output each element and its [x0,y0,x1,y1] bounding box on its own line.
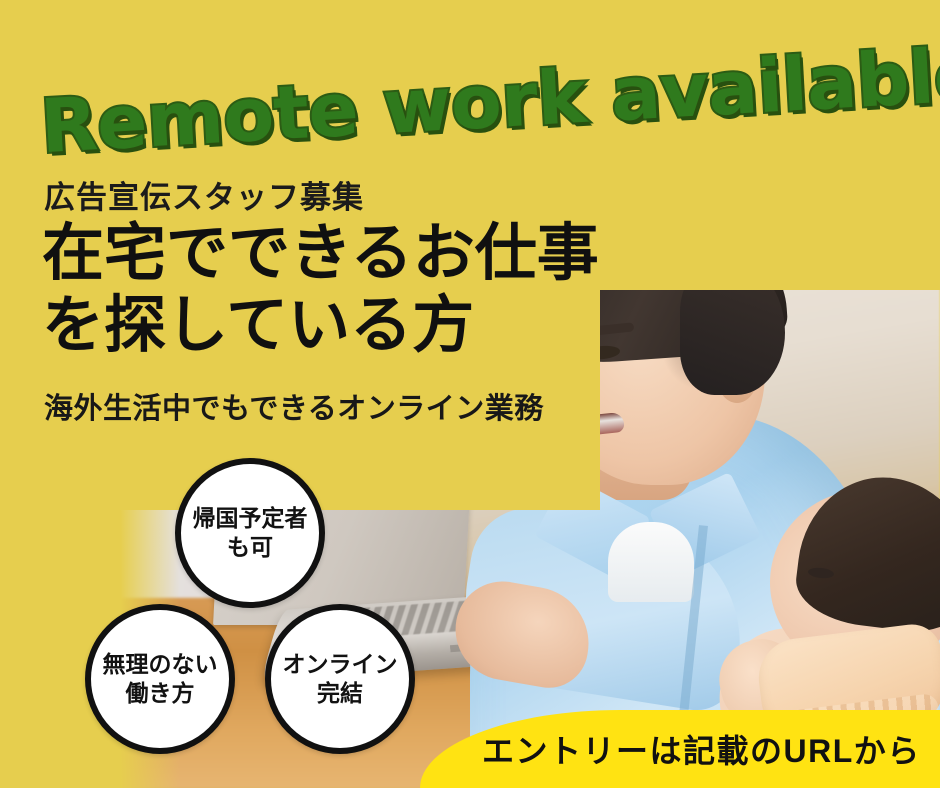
badge-line-1: 無理のない [103,651,218,677]
ad-poster: Remote work available 広告宣伝スタッフ募集 在宅でできるお… [0,0,940,788]
badge-flexible-work: 無理のない 働き方 [85,604,235,754]
main-heading-line-2: を探している方 [42,290,599,362]
badge-label: 帰国予定者 も可 [193,504,308,563]
page-title: Remote work available [38,32,940,171]
main-heading: 在宅でできるお仕事 を探している方 [42,218,599,362]
main-heading-line-1: 在宅でできるお仕事 [42,218,599,290]
kicker-text: 広告宣伝スタッフ募集 [44,172,364,217]
man-undershirt [608,522,694,602]
badge-returning-residents: 帰国予定者 も可 [175,458,325,608]
sub-copy: 海外生活中でもできるオンライン業務 [44,385,544,427]
badge-line-2: も可 [227,534,273,560]
badge-line-2: 完結 [317,680,363,706]
photo-mask-upper-right [560,170,940,265]
badge-label: 無理のない 働き方 [103,650,218,709]
badge-fully-online: オンライン 完結 [265,604,415,754]
badge-line-1: 帰国予定者 [193,505,308,531]
entry-banner-text: エントリーは記載のURLから [482,726,921,772]
badge-line-1: オンライン [283,651,398,677]
badge-line-2: 働き方 [126,680,195,706]
badge-label: オンライン 完結 [283,650,398,709]
